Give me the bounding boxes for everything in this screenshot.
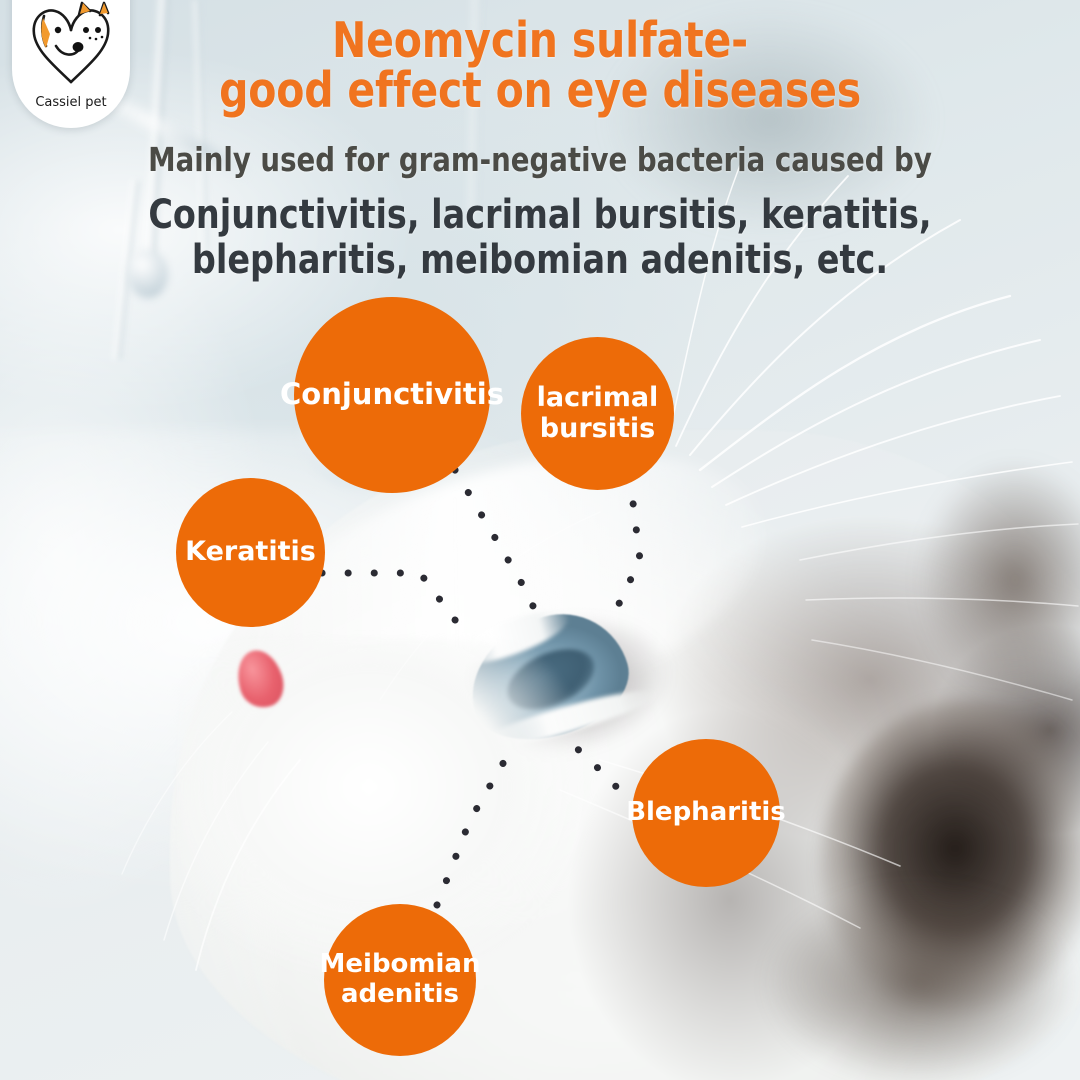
- poster-canvas: Cassiel pet Neomycin sulfate- good effec…: [0, 0, 1080, 1080]
- callout-meibomian-adenitis[interactable]: Meibomian adenitis: [324, 904, 476, 1056]
- callout-keratitis[interactable]: Keratitis: [176, 478, 325, 627]
- subtitle: Mainly used for gram-negative bacteria c…: [38, 143, 1042, 178]
- page-title: Neomycin sulfate- good effect on eye dis…: [38, 16, 1042, 117]
- headline-line-2: good effect on eye diseases: [38, 66, 1042, 116]
- disease-line-1: Conjunctivitis, lacrimal bursitis, kerat…: [38, 193, 1042, 238]
- disease-line-2: blepharitis, meibomian adenitis, etc.: [38, 238, 1042, 283]
- cat-marking: [700, 880, 1080, 1080]
- callout-conjunctivitis[interactable]: Conjunctivitis: [294, 297, 490, 493]
- callout-lacrimal-bursitis[interactable]: lacrimal bursitis: [521, 337, 674, 490]
- callout-blepharitis[interactable]: Blepharitis: [632, 739, 780, 887]
- disease-list-text: Conjunctivitis, lacrimal bursitis, kerat…: [38, 193, 1042, 283]
- headline-line-1: Neomycin sulfate-: [38, 16, 1042, 66]
